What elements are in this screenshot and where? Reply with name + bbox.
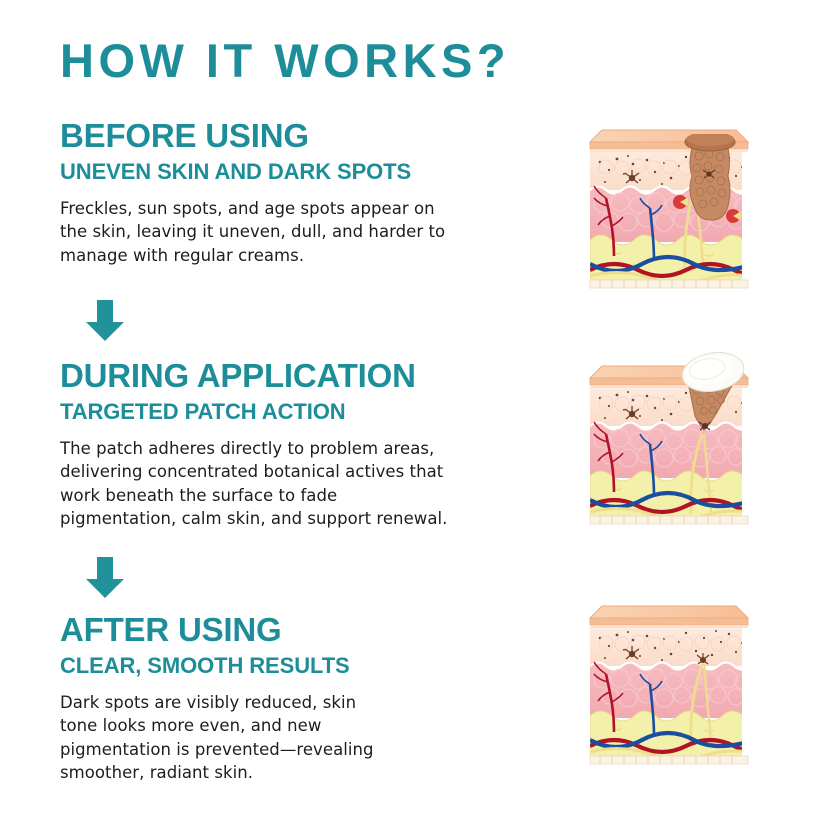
skin-diagram-during <box>576 348 756 534</box>
body-line: the skin, leaving it uneven, dull, and h… <box>60 220 560 243</box>
body-line: smoother, radiant skin. <box>60 761 560 784</box>
section-during: DURING APPLICATION TARGETED PATCH ACTION… <box>60 358 560 531</box>
body-line: Freckles, sun spots, and age spots appea… <box>60 197 560 220</box>
section-body: The patch adheres directly to problem ar… <box>60 437 560 531</box>
down-arrow-icon <box>83 555 127 599</box>
body-line: pigmentation, calm skin, and support ren… <box>60 507 560 530</box>
skin-diagram-before <box>576 112 756 298</box>
down-arrow-icon <box>83 298 127 342</box>
body-line: Dark spots are visibly reduced, skin <box>60 691 560 714</box>
infographic-page: HOW IT WORKS? BEFORE USING UNEVEN SKIN A… <box>0 0 823 823</box>
section-heading: BEFORE USING <box>60 118 560 154</box>
body-line: work beneath the surface to fade <box>60 484 560 507</box>
section-body: Dark spots are visibly reduced, skin ton… <box>60 691 560 785</box>
section-before: BEFORE USING UNEVEN SKIN AND DARK SPOTS … <box>60 118 560 267</box>
body-line: pigmentation is prevented—revealing <box>60 738 560 761</box>
section-after: AFTER USING CLEAR, SMOOTH RESULTS Dark s… <box>60 612 560 785</box>
body-line: tone looks more even, and new <box>60 714 560 737</box>
section-heading: AFTER USING <box>60 612 560 648</box>
section-body: Freckles, sun spots, and age spots appea… <box>60 197 560 267</box>
body-line: manage with regular creams. <box>60 244 560 267</box>
section-subheading: UNEVEN SKIN AND DARK SPOTS <box>60 159 560 184</box>
page-title: HOW IT WORKS? <box>60 36 510 85</box>
body-line: delivering concentrated botanical active… <box>60 460 560 483</box>
skin-diagram-after <box>576 588 756 774</box>
section-subheading: CLEAR, SMOOTH RESULTS <box>60 653 560 678</box>
body-line: The patch adheres directly to problem ar… <box>60 437 560 460</box>
section-subheading: TARGETED PATCH ACTION <box>60 399 560 424</box>
section-heading: DURING APPLICATION <box>60 358 560 394</box>
